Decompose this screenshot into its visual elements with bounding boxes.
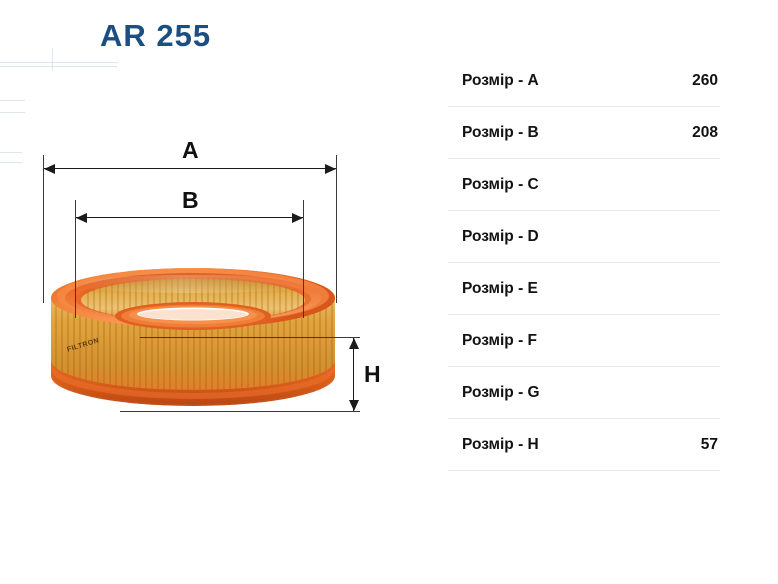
dimension-a-label: A xyxy=(182,137,199,164)
dimension-b-arrow-right xyxy=(292,213,303,223)
table-row: Розмір - E xyxy=(448,263,720,315)
air-filter-graphic: FILTRON xyxy=(48,264,338,416)
spec-label: Розмір - H xyxy=(448,436,539,454)
dimension-b-line xyxy=(76,217,303,218)
spec-label: Розмір - F xyxy=(448,332,537,350)
dimension-a-witness-left xyxy=(43,155,44,303)
dimension-a-witness-right xyxy=(336,155,337,303)
table-row: Розмір - A 260 xyxy=(448,55,720,107)
dimension-a-arrow-right xyxy=(325,164,336,174)
spec-label: Розмір - B xyxy=(448,124,539,142)
guide-line-horizontal-4 xyxy=(0,100,25,101)
dimension-b-witness-right xyxy=(303,200,304,318)
table-row: Розмір - D xyxy=(448,211,720,263)
table-row: Розмір - G xyxy=(448,367,720,419)
dimension-b-arrow-left xyxy=(76,213,87,223)
spec-label: Розмір - E xyxy=(448,280,538,298)
spec-label: Розмір - G xyxy=(448,384,540,402)
guide-line-horizontal-5 xyxy=(0,112,25,113)
table-row: Розмір - F xyxy=(448,315,720,367)
spec-value: 260 xyxy=(692,72,720,90)
guide-line-vertical-2 xyxy=(116,66,117,68)
spec-label: Розмір - C xyxy=(448,176,539,194)
product-illustration: FILTRON A B H xyxy=(0,120,430,440)
spec-value: 208 xyxy=(692,124,720,142)
dimension-b-label: B xyxy=(182,187,199,214)
page-title: AR 255 xyxy=(100,18,211,54)
spec-label: Розмір - A xyxy=(448,72,539,90)
dimension-h-arrow-bottom xyxy=(349,400,359,411)
spec-label: Розмір - D xyxy=(448,228,539,246)
table-row: Розмір - C xyxy=(448,159,720,211)
dimension-a-arrow-left xyxy=(44,164,55,174)
dimension-h-arrow-top xyxy=(349,338,359,349)
table-row: Розмір - H 57 xyxy=(448,419,720,471)
dimension-h-witness-bottom xyxy=(120,411,360,412)
specification-table: Розмір - A 260 Розмір - B 208 Розмір - C… xyxy=(448,55,720,471)
guide-line-horizontal-3 xyxy=(0,66,116,67)
spec-value: 57 xyxy=(701,436,720,454)
dimension-h-witness-top xyxy=(140,337,360,338)
table-row: Розмір - B 208 xyxy=(448,107,720,159)
guide-line-horizontal-2 xyxy=(0,62,118,63)
dimension-h-label: H xyxy=(364,361,381,388)
dimension-a-line xyxy=(44,168,336,169)
